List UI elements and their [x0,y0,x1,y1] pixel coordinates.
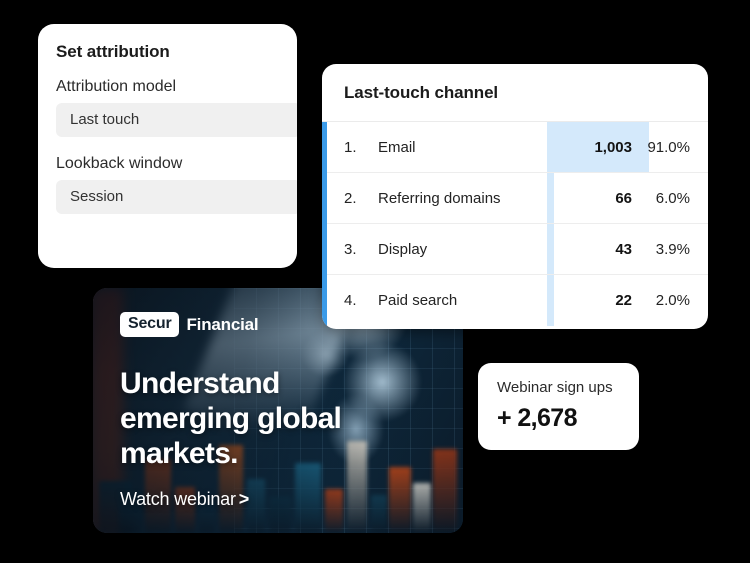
row-rank: 2. [322,190,370,207]
chevron-right-icon: > [239,489,249,509]
attribution-card-title: Set attribution [56,42,279,62]
table-accent-stripe [322,122,327,329]
channel-table-title: Last-touch channel [322,64,708,122]
row-value: 1,003 [560,139,632,156]
channel-table-body: 1. Email 1,003 91.0% 2. Referring domain… [322,122,708,326]
row-percent: 6.0% [632,190,708,207]
webinar-metric-value: + 2,678 [497,404,639,433]
row-rank: 1. [322,139,370,156]
ad-headline: Understand emerging global markets. [120,367,410,471]
row-rank: 4. [322,292,370,309]
ad-logo-mark: Secur [120,312,179,337]
last-touch-channel-card: Last-touch channel 1. Email 1,003 91.0% … [322,64,708,329]
webinar-card-body: Webinar sign ups + 2,678 [478,363,639,433]
ad-logo-word: Financial [186,315,258,335]
row-channel-name: Email [370,139,560,156]
row-channel-name: Paid search [370,292,560,309]
lookback-window-select[interactable]: Session [56,180,297,214]
screenshot-canvas: Set attribution Attribution model Last t… [0,0,750,563]
row-value: 66 [560,190,632,207]
attribution-model-label: Attribution model [56,78,279,96]
attribution-card-body: Set attribution Attribution model Last t… [38,24,297,214]
attribution-model-select[interactable]: Last touch [56,103,297,137]
row-channel-name: Referring domains [370,190,560,207]
table-row[interactable]: 2. Referring domains 66 6.0% [322,173,708,224]
watch-webinar-link[interactable]: Watch webinar> [120,489,249,510]
table-row[interactable]: 1. Email 1,003 91.0% [322,122,708,173]
row-value: 43 [560,241,632,258]
row-percent: 3.9% [632,241,708,258]
watch-webinar-label: Watch webinar [120,489,236,509]
row-channel-name: Display [370,241,560,258]
lookback-window-label: Lookback window [56,155,279,173]
table-row[interactable]: 4. Paid search 22 2.0% [322,275,708,326]
row-rank: 3. [322,241,370,258]
set-attribution-card: Set attribution Attribution model Last t… [38,24,297,268]
table-row[interactable]: 3. Display 43 3.9% [322,224,708,275]
webinar-metric-label: Webinar sign ups [497,379,639,396]
row-value: 22 [560,292,632,309]
row-percent: 2.0% [632,292,708,309]
row-percent: 91.0% [632,139,708,156]
webinar-signups-card: Webinar sign ups + 2,678 [478,363,639,450]
